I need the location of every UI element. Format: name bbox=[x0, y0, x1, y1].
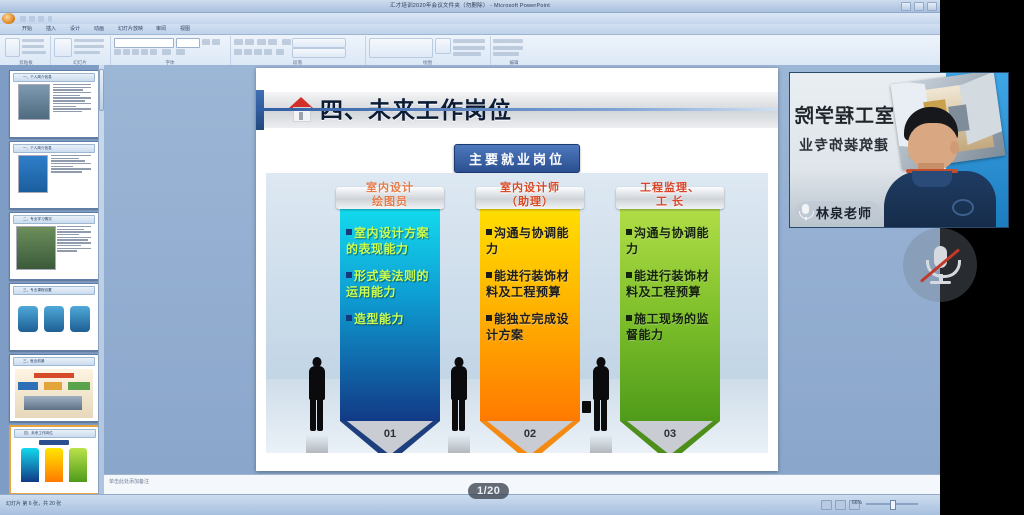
replace-icon[interactable] bbox=[493, 46, 523, 50]
column-header-line-2: 工 长 bbox=[616, 195, 724, 209]
title-underline bbox=[256, 108, 778, 111]
presenter-name-badge: 林泉老师 bbox=[795, 201, 880, 223]
bold-icon[interactable] bbox=[114, 49, 121, 55]
bullet-text: 造型能力 bbox=[354, 312, 404, 326]
thumbnail-card bbox=[44, 306, 64, 332]
bullet-text: 能进行装饰材料及工程预算 bbox=[626, 269, 709, 299]
presenter-name: 林泉老师 bbox=[816, 203, 872, 222]
justify-icon[interactable] bbox=[264, 49, 272, 55]
presenter-collar bbox=[912, 171, 952, 187]
column-header-3: 工程监理、 工 长 bbox=[616, 181, 724, 211]
tab-design[interactable]: 设计 bbox=[70, 25, 80, 33]
silhouette-leg bbox=[310, 398, 316, 431]
column-header-line-2: （助理） bbox=[476, 195, 584, 209]
bullet-marker-icon bbox=[346, 315, 352, 321]
thumbnail-slide-1[interactable]: 1 一、个人简介信息 bbox=[9, 70, 99, 138]
ribbon-group-font: 字体 bbox=[110, 36, 231, 66]
column-number-badge-2: 02 bbox=[480, 421, 580, 453]
thumbnail-slide-4[interactable]: 4 三、专业课程设置 bbox=[9, 283, 99, 351]
status-slide-count: 幻灯片 第 6 张，共 20 张 bbox=[6, 500, 61, 507]
screen-root: 汇才培训2020年会议文件夹（勿删除） - Microsoft PowerPoi… bbox=[0, 0, 1024, 515]
column-header-2: 室内设计师 （助理） bbox=[476, 181, 584, 211]
underline-icon[interactable] bbox=[132, 49, 139, 55]
thumbnail-header: 一、个人简介信息 bbox=[13, 144, 95, 153]
column-bullets-1: 室内设计方案的表现能力 形式美法则的运用能力 造型能力 bbox=[346, 225, 435, 338]
bullet-item: 沟通与协调能力 bbox=[486, 225, 575, 257]
background-banner-text: 室工程学院 bbox=[794, 101, 894, 128]
mic-arc bbox=[799, 211, 814, 219]
thumbnail-header-label: 三、专业课程设置 bbox=[23, 287, 52, 294]
job-column-3[interactable]: 工程监理、 工 长 沟通与协调能力 能进行装饰材料及工程预算 施工现场的监督能力 bbox=[620, 191, 720, 421]
thumbnail-header-label: 三、就业前景 bbox=[23, 358, 45, 365]
bullet-item: 施工现场的监督能力 bbox=[626, 311, 715, 343]
align-center-icon[interactable] bbox=[244, 49, 252, 55]
thumbnail-slide-6[interactable]: 6 四、未来工作岗位 bbox=[9, 425, 101, 495]
main-badge: 主要就业岗位 bbox=[454, 144, 580, 173]
page-indicator: 1/20 bbox=[468, 483, 509, 499]
bullet-marker-icon bbox=[346, 229, 352, 235]
notes-pane[interactable]: 单击此处添加备注 bbox=[104, 474, 940, 495]
window-title-bar: 汇才培训2020年会议文件夹（勿删除） - Microsoft PowerPoi… bbox=[0, 0, 940, 13]
font-color-icon[interactable] bbox=[176, 49, 185, 55]
normal-view-icon[interactable] bbox=[821, 500, 832, 510]
quick-access-toolbar[interactable] bbox=[0, 13, 940, 24]
font-size-select[interactable] bbox=[176, 38, 200, 48]
select-icon[interactable] bbox=[493, 52, 519, 56]
column-header-text: 室内设计 绘图员 bbox=[336, 181, 444, 209]
column-header-text: 工程监理、 工 长 bbox=[616, 181, 724, 209]
tab-slideshow[interactable]: 幻灯片放映 bbox=[118, 25, 143, 33]
undo-icon[interactable] bbox=[29, 16, 35, 22]
slide-sorter-icon[interactable] bbox=[835, 500, 846, 510]
shrink-font-icon[interactable] bbox=[212, 39, 220, 45]
customize-qat-icon[interactable] bbox=[48, 16, 52, 22]
slide-thumbnail-pane[interactable]: 1 一、个人简介信息 2 一、个人简介信息 bbox=[0, 65, 104, 495]
column-header-1: 室内设计 绘图员 bbox=[336, 181, 444, 211]
thumbnail-header-label: 二、专业学习情况 bbox=[23, 216, 52, 223]
bullet-item: 能进行装饰材料及工程预算 bbox=[486, 268, 575, 300]
bullet-marker-icon bbox=[626, 272, 632, 278]
ribbon[interactable]: 剪贴板 幻灯片 字体 bbox=[0, 35, 940, 69]
thumbnail-poster-block bbox=[18, 382, 38, 390]
bullet-marker-icon bbox=[486, 315, 492, 321]
bullet-text: 施工现场的监督能力 bbox=[626, 312, 709, 342]
thumbnail-text-lines bbox=[51, 155, 91, 174]
thumbnail-column-3 bbox=[69, 448, 87, 482]
bullet-item: 沟通与协调能力 bbox=[626, 225, 715, 257]
notes-placeholder[interactable]: 单击此处添加备注 bbox=[109, 478, 149, 485]
bullet-item: 能进行装饰材料及工程预算 bbox=[626, 268, 715, 300]
tab-animations[interactable]: 动画 bbox=[94, 25, 104, 33]
shape-effects-icon[interactable] bbox=[453, 46, 485, 50]
column-header-text: 室内设计师 （助理） bbox=[476, 181, 584, 209]
numbering-icon[interactable] bbox=[245, 39, 254, 45]
bullets-icon[interactable] bbox=[234, 39, 243, 45]
bullet-text: 沟通与协调能力 bbox=[626, 226, 709, 256]
thumbnail-badge bbox=[39, 440, 69, 445]
silhouette-leg bbox=[317, 398, 323, 431]
person-silhouette-3 bbox=[588, 357, 614, 435]
align-left-icon[interactable] bbox=[234, 49, 242, 55]
grow-font-icon[interactable] bbox=[202, 39, 210, 45]
bullet-text: 室内设计方案的表现能力 bbox=[346, 226, 429, 256]
reset-icon[interactable] bbox=[74, 45, 104, 48]
person-silhouette-1 bbox=[304, 357, 330, 435]
tab-home[interactable]: 开始 bbox=[22, 25, 32, 33]
zoom-level: 66% bbox=[852, 500, 862, 506]
bullet-item: 室内设计方案的表现能力 bbox=[346, 225, 435, 257]
column-number-badge-3: 03 bbox=[620, 421, 720, 453]
current-slide[interactable]: 四、未来工作岗位 主要就业岗位 bbox=[256, 68, 778, 471]
thumbnail-poster-block bbox=[68, 382, 90, 390]
column-header-line-1: 室内设计 bbox=[336, 181, 444, 195]
ribbon-group-paragraph: 段落 bbox=[230, 36, 366, 66]
bullet-item: 造型能力 bbox=[346, 311, 435, 327]
thumbnail-photo bbox=[18, 155, 48, 193]
thumbnail-header: 三、就业前景 bbox=[13, 357, 95, 366]
briefcase-icon bbox=[582, 401, 591, 413]
thumbnail-poster-block bbox=[44, 382, 62, 390]
column-header-line-2: 绘图员 bbox=[336, 195, 444, 209]
silhouette-torso bbox=[309, 366, 325, 400]
char-spacing-icon[interactable] bbox=[162, 49, 171, 55]
silhouette-reflection bbox=[306, 435, 328, 453]
shape-outline-icon[interactable] bbox=[453, 39, 485, 43]
presenter-shirt-logo bbox=[952, 199, 974, 216]
bullet-text: 能独立完成设计方案 bbox=[486, 312, 569, 342]
close-button[interactable] bbox=[927, 2, 937, 11]
bullet-marker-icon bbox=[626, 229, 632, 235]
thumbnail-poster-title bbox=[34, 373, 74, 378]
microphone-icon bbox=[799, 204, 812, 220]
silhouette-leg bbox=[452, 398, 458, 431]
tab-insert[interactable]: 插入 bbox=[46, 25, 56, 33]
tab-view[interactable]: 视图 bbox=[180, 25, 190, 33]
thumbnail-photo bbox=[16, 226, 56, 270]
maximize-button[interactable] bbox=[914, 2, 924, 11]
badge-number: 01 bbox=[340, 428, 440, 440]
presenter-video-panel[interactable]: 室工程学院 建筑装饰专业 林泉老师 bbox=[789, 72, 1009, 228]
thumbnail-column-1 bbox=[21, 448, 39, 482]
window-title: 汇才培训2020年会议文件夹（勿删除） - Microsoft PowerPoi… bbox=[0, 1, 940, 9]
thumbnail-card bbox=[70, 306, 90, 332]
silhouette-leg bbox=[601, 398, 607, 431]
shapes-gallery[interactable] bbox=[369, 38, 433, 58]
presenter-figure bbox=[886, 107, 994, 227]
minimize-button[interactable] bbox=[901, 2, 911, 11]
ribbon-group-slides: 幻灯片 bbox=[50, 36, 111, 66]
thumbnail-header: 一、个人简介信息 bbox=[13, 73, 95, 82]
bullet-text: 能进行装饰材料及工程预算 bbox=[486, 269, 569, 299]
silhouette-torso bbox=[451, 366, 467, 400]
job-column-2[interactable]: 室内设计师 （助理） 沟通与协调能力 能进行装饰材料及工程预算 能独立完成设计方… bbox=[480, 191, 580, 421]
bullet-marker-icon bbox=[486, 272, 492, 278]
delete-slide-icon[interactable] bbox=[74, 51, 100, 54]
badge-number: 03 bbox=[620, 428, 720, 440]
bullet-text: 形式美法则的运用能力 bbox=[346, 269, 429, 299]
slide-body: 室内设计 绘图员 室内设计方案的表现能力 形式美法则的运用能力 造型能力 bbox=[266, 173, 768, 453]
silhouette-torso bbox=[593, 366, 609, 400]
column-header-line-1: 室内设计师 bbox=[476, 181, 584, 195]
increase-indent-icon[interactable] bbox=[268, 39, 277, 45]
italic-icon[interactable] bbox=[123, 49, 130, 55]
bullet-item: 形式美法则的运用能力 bbox=[346, 268, 435, 300]
person-silhouette-2 bbox=[446, 357, 472, 435]
house-door bbox=[299, 112, 303, 120]
strikethrough-icon[interactable] bbox=[150, 49, 157, 55]
copy-icon[interactable] bbox=[22, 45, 44, 48]
align-right-icon[interactable] bbox=[254, 49, 262, 55]
office-button-icon[interactable] bbox=[2, 13, 15, 24]
mic-base bbox=[930, 281, 951, 284]
quick-styles-icon[interactable] bbox=[453, 52, 481, 56]
thumbnail-text-lines bbox=[57, 226, 91, 253]
columns-icon[interactable] bbox=[276, 49, 284, 55]
bullet-marker-icon bbox=[346, 272, 352, 278]
thumbnail-poster-photo bbox=[24, 396, 82, 410]
thumbnail-column-2 bbox=[45, 448, 63, 482]
thumbnail-header-label: 一、个人简介信息 bbox=[23, 145, 52, 152]
silhouette-leg bbox=[594, 398, 600, 431]
window-controls[interactable] bbox=[901, 2, 937, 11]
format-painter-icon[interactable] bbox=[22, 51, 46, 54]
zoom-slider-handle[interactable] bbox=[890, 500, 896, 510]
mic-stem bbox=[805, 217, 807, 220]
ribbon-group-drawing: 绘图 bbox=[365, 36, 491, 66]
thumbnail-header-label: 四、未来工作岗位 bbox=[24, 430, 53, 437]
background-banner-subtext: 建筑装饰专业 bbox=[798, 135, 888, 155]
ribbon-group-clipboard: 剪贴板 bbox=[2, 36, 51, 66]
font-family-select[interactable] bbox=[114, 38, 174, 48]
text-direction-button[interactable] bbox=[292, 38, 346, 48]
cut-icon[interactable] bbox=[22, 39, 44, 42]
thumbnail-text-lines bbox=[53, 84, 91, 114]
column-number-badge-1: 01 bbox=[340, 421, 440, 453]
job-column-1[interactable]: 室内设计 绘图员 室内设计方案的表现能力 形式美法则的运用能力 造型能力 bbox=[340, 191, 440, 421]
thumbnail-header: 三、专业课程设置 bbox=[13, 286, 95, 295]
line-spacing-icon[interactable] bbox=[282, 39, 291, 45]
thumbnail-card bbox=[18, 306, 38, 332]
silhouette-leg bbox=[459, 398, 465, 431]
silhouette-reflection bbox=[590, 435, 612, 453]
new-slide-icon[interactable] bbox=[54, 38, 72, 57]
save-icon[interactable] bbox=[20, 16, 26, 22]
bullet-marker-icon bbox=[486, 229, 492, 235]
thumbnail-slide-2[interactable]: 2 一、个人简介信息 bbox=[9, 141, 99, 209]
find-icon[interactable] bbox=[493, 39, 523, 43]
thumbnail-header-label: 一、个人简介信息 bbox=[23, 74, 52, 81]
thumbnail-photo bbox=[18, 84, 50, 120]
thumbnail-slide-5[interactable]: 5 三、就业前景 bbox=[9, 354, 99, 422]
redo-icon[interactable] bbox=[38, 16, 44, 22]
column-bullets-3: 沟通与协调能力 能进行装饰材料及工程预算 施工现场的监督能力 bbox=[626, 225, 715, 354]
convert-smartart-button[interactable] bbox=[292, 48, 346, 58]
tab-review[interactable]: 审阅 bbox=[156, 25, 166, 33]
paste-icon[interactable] bbox=[5, 38, 20, 57]
bullet-item: 能独立完成设计方案 bbox=[486, 311, 575, 343]
thumbnail-header: 二、专业学习情况 bbox=[13, 215, 95, 224]
column-header-line-1: 工程监理、 bbox=[616, 181, 724, 195]
silhouette-reflection bbox=[448, 435, 470, 453]
presenter-ear bbox=[950, 141, 959, 154]
bullet-marker-icon bbox=[626, 315, 632, 321]
decrease-indent-icon[interactable] bbox=[257, 39, 266, 45]
badge-number: 02 bbox=[480, 428, 580, 440]
column-bullets-2: 沟通与协调能力 能进行装饰材料及工程预算 能独立完成设计方案 bbox=[486, 225, 575, 354]
ribbon-group-editing: 编辑 bbox=[490, 36, 538, 66]
bullet-text: 沟通与协调能力 bbox=[486, 226, 569, 256]
layout-icon[interactable] bbox=[74, 39, 104, 42]
microphone-muted-button[interactable] bbox=[903, 228, 977, 302]
thumbnail-header: 四、未来工作岗位 bbox=[14, 429, 96, 438]
shadow-icon[interactable] bbox=[141, 49, 148, 55]
thumbnail-slide-3[interactable]: 3 二、专业学习情况 bbox=[9, 212, 99, 280]
ribbon-tab-strip[interactable]: 开始 插入 设计 动画 幻灯片放映 审阅 视图 bbox=[0, 24, 940, 35]
shape-fill-icon[interactable] bbox=[435, 38, 451, 54]
